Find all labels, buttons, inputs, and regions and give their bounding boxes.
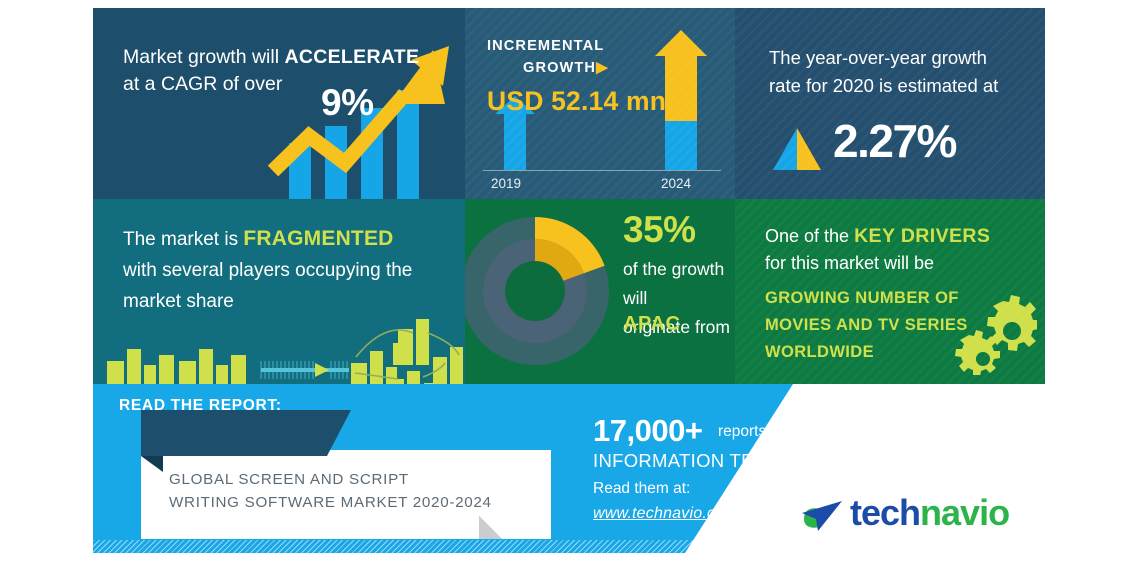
year-label-start: 2019 [491, 176, 521, 191]
read-the-report-ribbon [141, 410, 351, 456]
apac-percent: 35% [623, 209, 696, 251]
infographic-canvas: Market growth will ACCELERATE at a CAGR … [0, 0, 1140, 570]
key-drivers-line2: for this market will be [765, 250, 1030, 277]
cagr-text-bold: ACCELERATE [284, 46, 419, 68]
cagr-description: Market growth will ACCELERATE at a CAGR … [123, 44, 423, 98]
panel-incremental-growth: INCREMENTAL GROWTH▶ USD 52.14 mn 2019 20… [465, 8, 735, 199]
yoy-line2: rate for 2020 is estimated at [769, 75, 998, 96]
yoy-line1: The year-over-year growth [769, 47, 987, 68]
key-drivers-text-bold: KEY DRIVERS [854, 225, 990, 247]
play-arrow-icon: ▶ [596, 59, 608, 76]
report-count: 17,000+ [593, 413, 702, 449]
fragmented-line2: with several players occupying the [123, 260, 412, 281]
apac-region-label: APAC [623, 313, 681, 336]
donut-chart-icon [465, 213, 617, 378]
panel-footer: READ THE REPORT: GLOBAL SCREEN AND SCRIP… [93, 384, 1045, 553]
incremental-growth-label: INCREMENTAL GROWTH▶ [487, 36, 672, 79]
triangle-up-indicator-icon [771, 126, 827, 172]
infographic: Market growth will ACCELERATE at a CAGR … [93, 8, 1045, 553]
panel-fragmented-market: The market is FRAGMENTED with several pl… [93, 199, 465, 384]
footer-hatch-strip [93, 540, 748, 553]
apac-line1: of the growth will [623, 259, 724, 308]
yoy-value: 2.27% [833, 114, 956, 168]
fragmented-text-before: The market is [123, 229, 243, 250]
panel-cagr: Market growth will ACCELERATE at a CAGR … [93, 8, 465, 199]
card-fold-corner [479, 516, 502, 539]
read-them-at-label: Read them at: [593, 480, 690, 498]
year-label-end: 2024 [661, 176, 691, 191]
logo-word-part2: navio [920, 492, 1009, 533]
read-the-report-label: READ THE REPORT: [119, 397, 282, 415]
fragmented-line3: market share [123, 291, 234, 312]
key-drivers-text-before: One of the [765, 226, 854, 246]
report-title: GLOBAL SCREEN AND SCRIPT WRITING SOFTWAR… [169, 468, 509, 514]
cagr-text-before: Market growth will [123, 46, 284, 68]
cagr-chart-icon [93, 8, 465, 199]
technavio-arrow-icon [800, 497, 844, 537]
logo-word-part1: tech [850, 492, 920, 533]
panel-apac-share: 35% of the growth will originate from AP… [465, 199, 735, 384]
panel-key-drivers: One of the KEY DRIVERS for this market w… [735, 199, 1045, 384]
gears-icon [947, 295, 1037, 375]
fragmented-text-bold: FRAGMENTED [243, 227, 393, 250]
incremental-axis-line [483, 170, 721, 171]
incremental-growth-value: USD 52.14 mn [487, 86, 666, 117]
yoy-description: The year-over-year growth rate for 2020 … [769, 44, 1031, 100]
technavio-wordmark: technavio [850, 492, 1009, 534]
key-drivers-line1: One of the KEY DRIVERS [765, 223, 1030, 250]
buildings-network-icon [93, 317, 465, 384]
report-title-line2: WRITING SOFTWARE MARKET 2020-2024 [169, 494, 492, 511]
incremental-label-line1: INCREMENTAL [487, 38, 604, 54]
cagr-value: 9% [321, 82, 373, 124]
report-title-line1: GLOBAL SCREEN AND SCRIPT [169, 471, 409, 488]
key-drivers-highlight-line2: MOVIES AND TV SERIES [765, 316, 968, 334]
cagr-text-line2: at a CAGR of over [123, 73, 282, 95]
incremental-label-line2: GROWTH [523, 60, 596, 76]
key-drivers-highlight-line3: WORLDWIDE [765, 343, 874, 361]
fragmented-description: The market is FRAGMENTED with several pl… [123, 223, 443, 317]
key-drivers-highlight-line1: GROWING NUMBER OF [765, 289, 959, 307]
panel-yoy-growth: The year-over-year growth rate for 2020 … [735, 8, 1045, 199]
